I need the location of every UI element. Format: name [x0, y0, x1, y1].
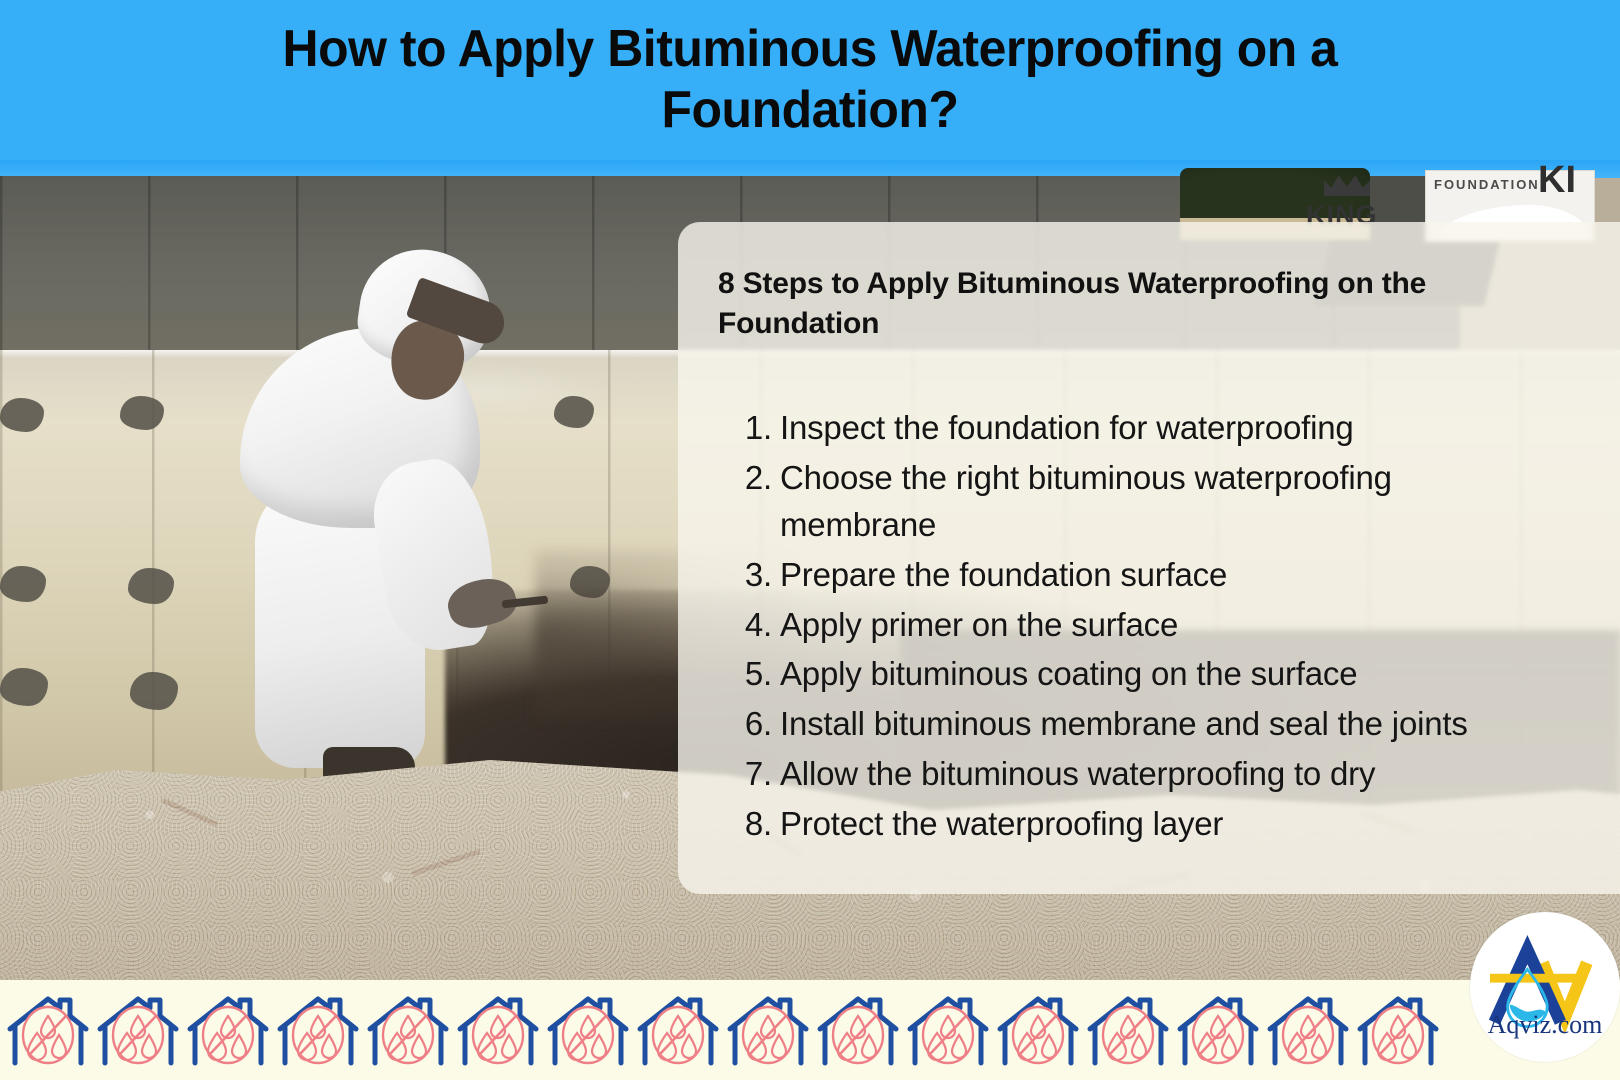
house-no-water-icon — [906, 991, 990, 1069]
worker-figure — [205, 250, 535, 790]
step-item: Apply bituminous coating on the surface — [718, 651, 1478, 698]
house-no-water-icon — [816, 991, 900, 1069]
wall-tie-blob — [120, 396, 164, 430]
king-sign-partial-text: KI — [1538, 160, 1576, 202]
steps-panel: 8 Steps to Apply Bituminous Waterproofin… — [678, 222, 1620, 894]
header-banner: How to Apply Bituminous Waterproofing on… — [0, 0, 1620, 160]
foundation-sign-text: FOUNDATION — [1434, 177, 1540, 192]
footer-pattern-strip — [0, 980, 1620, 1080]
brand-name: Aqviz.com — [1470, 1010, 1620, 1040]
steps-list: Inspect the foundation for waterproofing… — [718, 405, 1590, 848]
page-title: How to Apply Bituminous Waterproofing on… — [205, 19, 1415, 141]
brand-logo[interactable]: Aqviz.com — [1470, 912, 1620, 1062]
wall-tie-blob — [128, 568, 174, 604]
house-no-water-icon — [186, 991, 270, 1069]
wall-tie-blob — [554, 396, 594, 428]
house-no-water-icon — [276, 991, 360, 1069]
wall-tie-blob — [0, 668, 48, 706]
crown-icon — [1324, 174, 1370, 196]
step-item: Choose the right bituminous waterproofin… — [718, 455, 1478, 549]
twig — [162, 798, 219, 827]
infographic-canvas: How to Apply Bituminous Waterproofing on… — [0, 0, 1620, 1080]
panel-heading: 8 Steps to Apply Bituminous Waterproofin… — [718, 264, 1458, 343]
step-item: Apply primer on the surface — [718, 602, 1478, 649]
house-no-water-icon — [546, 991, 630, 1069]
house-no-water-icon — [1356, 991, 1440, 1069]
house-no-water-icon — [6, 991, 90, 1069]
house-no-water-icon — [1266, 991, 1350, 1069]
step-item: Inspect the foundation for waterproofing — [718, 405, 1478, 452]
step-item: Allow the bituminous waterproofing to dr… — [718, 751, 1478, 798]
wall-tie-blob — [130, 672, 178, 710]
house-no-water-icon — [996, 991, 1080, 1069]
house-no-water-icon — [1086, 991, 1170, 1069]
step-item: Install bituminous membrane and seal the… — [718, 701, 1478, 748]
step-item: Protect the waterproofing layer — [718, 801, 1478, 848]
house-no-water-icon — [456, 991, 540, 1069]
step-item: Prepare the foundation surface — [718, 552, 1478, 599]
house-no-water-icon — [96, 991, 180, 1069]
house-no-water-icon — [726, 991, 810, 1069]
house-no-water-icon — [1176, 991, 1260, 1069]
house-no-water-icon — [366, 991, 450, 1069]
house-no-water-icon — [636, 991, 720, 1069]
wall-tie-blob — [0, 398, 44, 432]
wall-tie-blob — [0, 566, 46, 602]
twig — [411, 849, 481, 876]
